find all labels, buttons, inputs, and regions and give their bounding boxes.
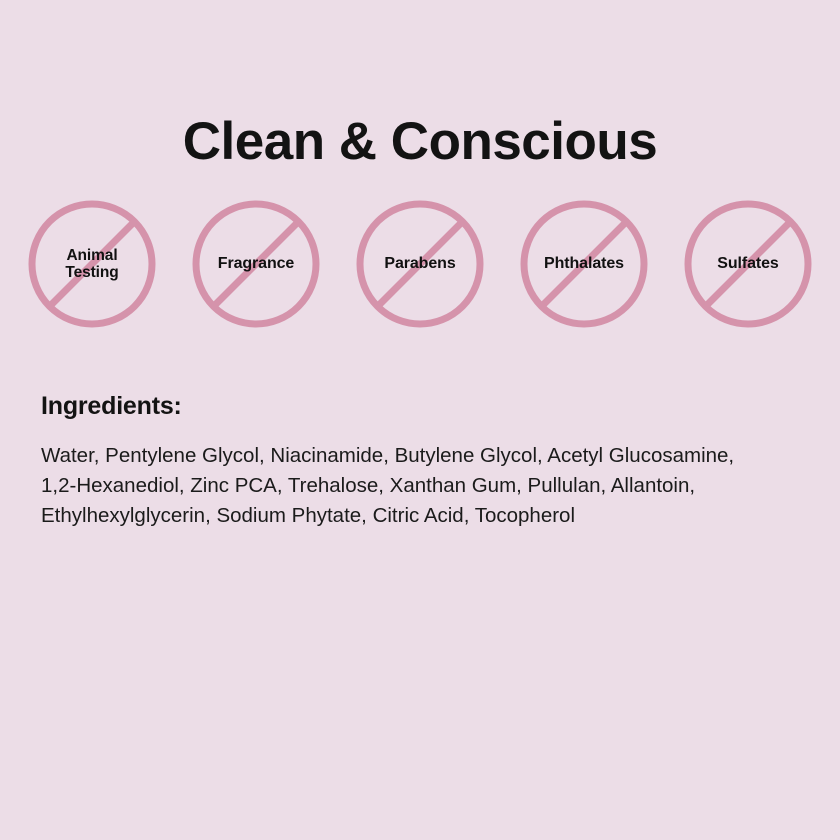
clean-conscious-infographic: Clean & Conscious Animal Testing Fragran… [0, 0, 840, 840]
badge-label: Parabens [382, 255, 457, 273]
free-from-badge-row: Animal Testing Fragrance Parabens Phthal… [28, 198, 812, 330]
badge-fragrance: Fragrance [192, 200, 320, 328]
badge-sulfates: Sulfates [684, 200, 812, 328]
badge-label: Animal Testing [63, 247, 120, 282]
badge-phthalates: Phthalates [520, 200, 648, 328]
page-title: Clean & Conscious [0, 114, 840, 170]
badge-animal-testing: Animal Testing [28, 200, 156, 328]
badge-label: Phthalates [542, 255, 626, 273]
ingredients-list: Water, Pentylene Glycol, Niacinamide, Bu… [41, 441, 753, 531]
badge-parabens: Parabens [356, 200, 484, 328]
badge-label: Fragrance [216, 255, 296, 273]
ingredients-section: Ingredients: Water, Pentylene Glycol, Ni… [41, 392, 781, 531]
ingredients-heading: Ingredients: [41, 392, 781, 421]
badge-label: Sulfates [715, 255, 780, 273]
